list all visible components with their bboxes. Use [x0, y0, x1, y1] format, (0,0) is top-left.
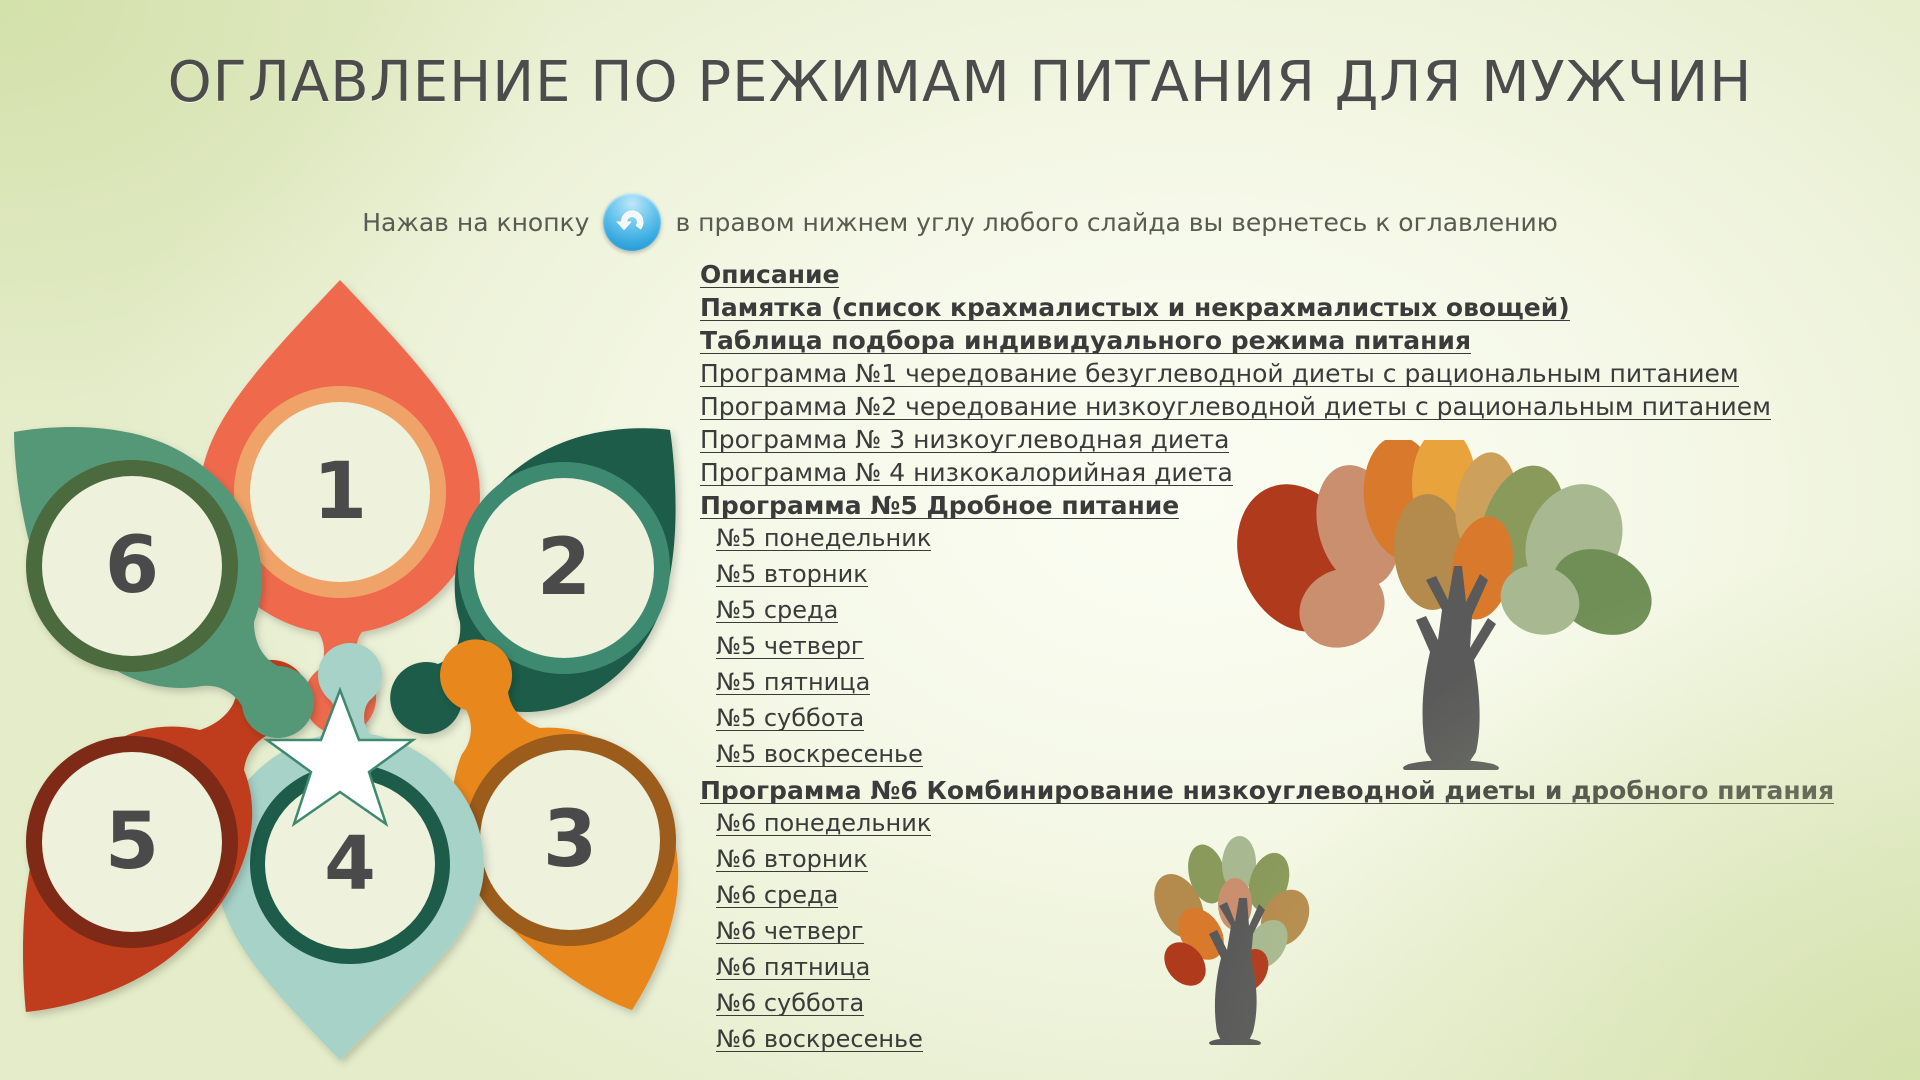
- toc-link-label: №6 понедельник: [716, 811, 931, 836]
- toc-link-label: №6 суббота: [716, 991, 864, 1016]
- toc-link[interactable]: Памятка (список крахмалистых и некрахмал…: [700, 295, 1900, 321]
- subtitle-text-before: Нажав на кнопку: [362, 208, 589, 237]
- toc-link-label: Программа № 3 низкоуглеводная диета: [700, 427, 1229, 453]
- toc-link-label: Таблица подбора индивидуального режима п…: [700, 328, 1471, 354]
- flower-petal-4-number: 4: [324, 821, 376, 907]
- toc-link-label: №5 суббота: [716, 706, 864, 731]
- flower-petal-6-number: 6: [105, 521, 159, 611]
- toc-link[interactable]: Программа №6 Комбинирование низкоуглевод…: [700, 778, 1900, 804]
- toc-link-label: №5 четверг: [716, 634, 864, 659]
- toc-link[interactable]: Программа №1 чередование безуглеводной д…: [700, 361, 1900, 387]
- subtitle-row: Нажав на кнопку в правом нижнем углу люб…: [0, 193, 1920, 251]
- autumn-tree-large: [1230, 440, 1680, 770]
- toc-link-label: №6 вторник: [716, 847, 868, 872]
- toc-link-label: Программа № 4 низкокалорийная диета: [700, 460, 1233, 486]
- toc-link-label: №5 вторник: [716, 562, 868, 587]
- page-title: ОГЛАВЛЕНИЕ ПО РЕЖИМАМ ПИТАНИЯ ДЛЯ МУЖЧИН: [0, 50, 1920, 115]
- undo-arrow-icon[interactable]: [603, 193, 661, 251]
- toc-link[interactable]: Описание: [700, 262, 1900, 288]
- toc-link-label: №6 четверг: [716, 919, 864, 944]
- toc-link-label: Описание: [700, 262, 839, 288]
- toc-link-label: Программа №1 чередование безуглеводной д…: [700, 361, 1739, 387]
- toc-link[interactable]: Программа №2 чередование низкоуглеводной…: [700, 394, 1900, 420]
- slide-canvas: ОГЛАВЛЕНИЕ ПО РЕЖИМАМ ПИТАНИЯ ДЛЯ МУЖЧИН…: [0, 0, 1920, 1080]
- subtitle-text-after: в правом нижнем углу любого слайда вы ве…: [675, 208, 1557, 237]
- toc-link-label: №5 пятница: [716, 670, 870, 695]
- toc-link-label: Программа №5 Дробное питание: [700, 493, 1179, 519]
- flower-petal-2-number: 2: [537, 523, 591, 613]
- flower-infographic: 1 2 3 4: [10, 270, 690, 1070]
- toc-link-label: №6 среда: [716, 883, 838, 908]
- toc-link-label: №5 среда: [716, 598, 838, 623]
- flower-petal-3-number: 3: [543, 795, 597, 885]
- toc-link-label: №5 воскресенье: [716, 742, 923, 767]
- toc-link-label: Памятка (список крахмалистых и некрахмал…: [700, 295, 1570, 321]
- toc-link[interactable]: Таблица подбора индивидуального режима п…: [700, 328, 1900, 354]
- toc-link-label: Программа №6 Комбинирование низкоуглевод…: [700, 778, 1834, 804]
- flower-petal-5-number: 5: [105, 797, 159, 887]
- toc-link-label: №6 пятница: [716, 955, 870, 980]
- flower-petal-1-number: 1: [313, 447, 367, 537]
- toc-link-label: №5 понедельник: [716, 526, 931, 551]
- toc-link-label: Программа №2 чередование низкоуглеводной…: [700, 394, 1771, 420]
- autumn-tree-small: [1135, 830, 1335, 1045]
- toc-link-label: №6 воскресенье: [716, 1027, 923, 1052]
